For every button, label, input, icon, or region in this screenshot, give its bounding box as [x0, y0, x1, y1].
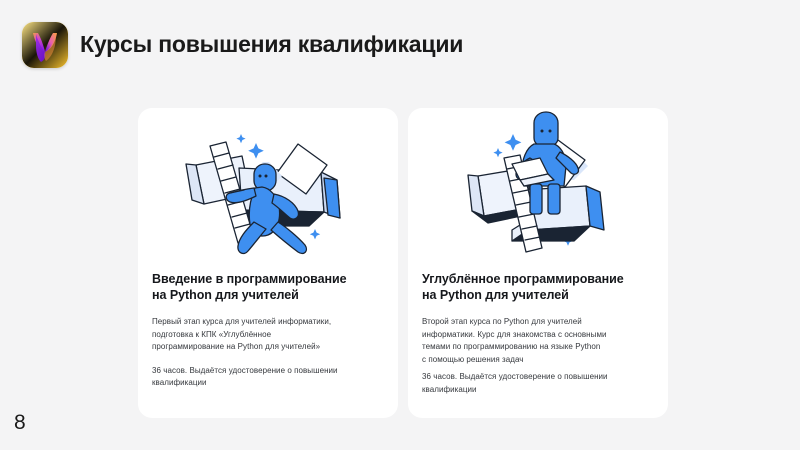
illustration-person-with-laptop-on-box-with-ladder: [408, 108, 668, 276]
yandex-textbook-logo-icon: [22, 22, 68, 68]
course-card[interactable]: Углублённое программирование на Python д…: [408, 108, 668, 418]
course-card-description: Первый этап курса для учителей информати…: [152, 316, 386, 354]
course-card-note: 36 часов. Выдаётся удостоверение о повыш…: [422, 371, 656, 396]
course-card-description: Второй этап курса по Python для учителей…: [422, 316, 656, 366]
course-card-title: Углублённое программирование на Python д…: [422, 272, 656, 303]
course-card-list: Введение в программирование на Python дл…: [138, 108, 668, 418]
page-title: Курсы повышения квалификации: [80, 26, 463, 62]
slide-number: 8: [14, 412, 26, 434]
course-card[interactable]: Введение в программирование на Python дл…: [138, 108, 398, 418]
course-card-title: Введение в программирование на Python дл…: [152, 272, 386, 303]
illustration-person-running-with-ladder-and-box: [138, 108, 398, 276]
course-card-body: Введение в программирование на Python дл…: [152, 272, 386, 390]
course-card-body: Углублённое программирование на Python д…: [422, 272, 656, 396]
slide-header: Курсы повышения квалификации: [0, 0, 800, 90]
course-card-note: 36 часов. Выдаётся удостоверение о повыш…: [152, 365, 386, 390]
